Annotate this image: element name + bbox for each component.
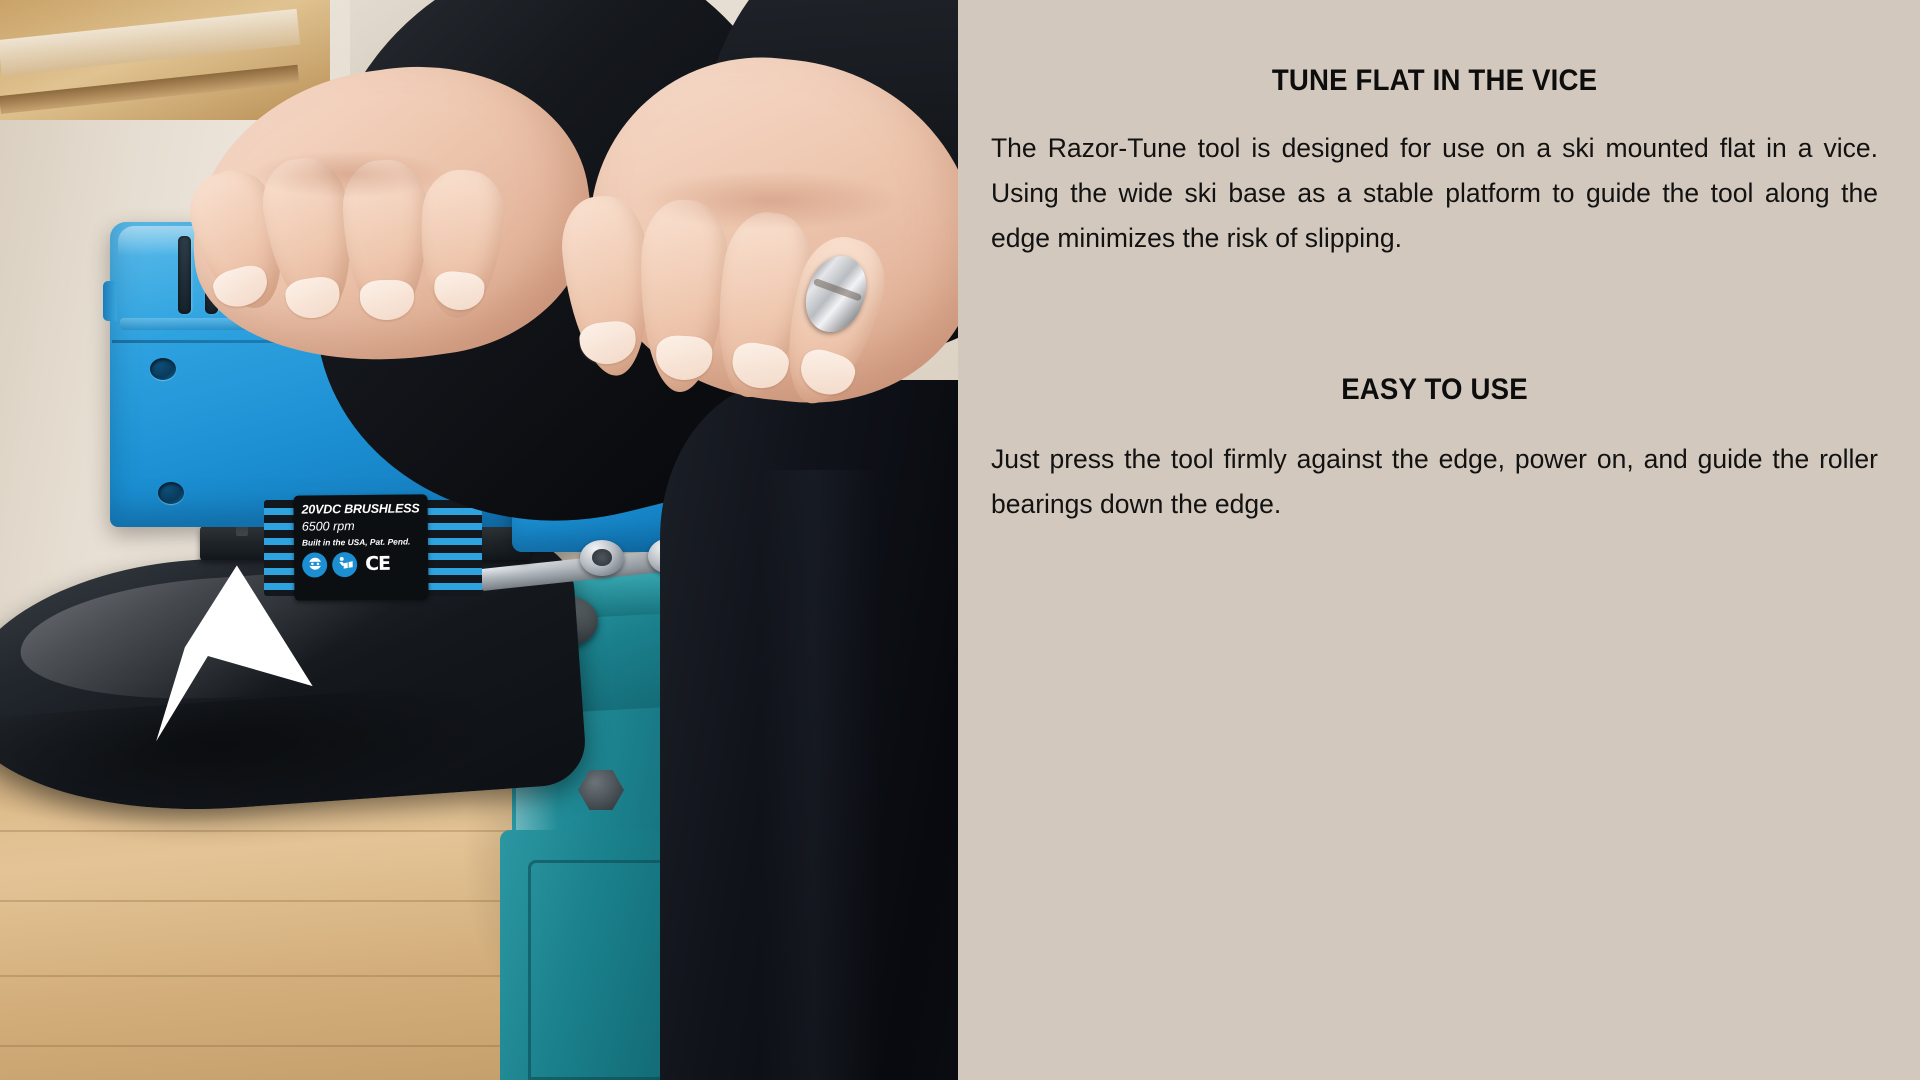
tool-side-vent-right <box>424 500 482 596</box>
tool-screw-hole-upper <box>150 358 176 380</box>
tool-spec-label: 20VDC BRUSHLESS 6500 rpm Built in the US… <box>293 494 428 600</box>
product-photo: 20VDC BRUSHLESS 6500 rpm Built in the US… <box>0 0 958 1080</box>
torso-fabric-fold <box>760 470 880 1080</box>
slide-root: 20VDC BRUSHLESS 6500 rpm Built in the US… <box>0 0 1920 1080</box>
roller-bearing-left <box>580 540 624 576</box>
tool-side-button[interactable] <box>103 281 117 321</box>
body-tune-flat-in-the-vice: The Razor-Tune tool is designed for use … <box>991 126 1878 261</box>
ce-mark-icon: CE <box>365 553 390 575</box>
text-panel: TUNE FLAT IN THE VICE The Razor-Tune too… <box>958 0 1920 1080</box>
spec-rpm-line: 6500 rpm <box>302 519 420 535</box>
section-easy-to-use: EASY TO USE Just press the tool firmly a… <box>991 373 1878 527</box>
body-easy-to-use: Just press the tool firmly against the e… <box>991 437 1878 527</box>
heading-tune-flat-in-the-vice: TUNE FLAT IN THE VICE <box>1026 64 1842 98</box>
safety-goggles-icon <box>302 552 327 577</box>
spec-pictogram-row: CE <box>302 551 420 577</box>
read-manual-icon <box>332 552 357 577</box>
section-tune-flat-in-the-vice: TUNE FLAT IN THE VICE The Razor-Tune too… <box>991 64 1878 261</box>
tool-screw-hole-lower <box>158 482 184 504</box>
heading-easy-to-use: EASY TO USE <box>1026 373 1842 407</box>
spec-origin-line: Built in the USA, Pat. Pend. <box>302 537 420 547</box>
spec-voltage-line: 20VDC BRUSHLESS <box>302 501 420 517</box>
